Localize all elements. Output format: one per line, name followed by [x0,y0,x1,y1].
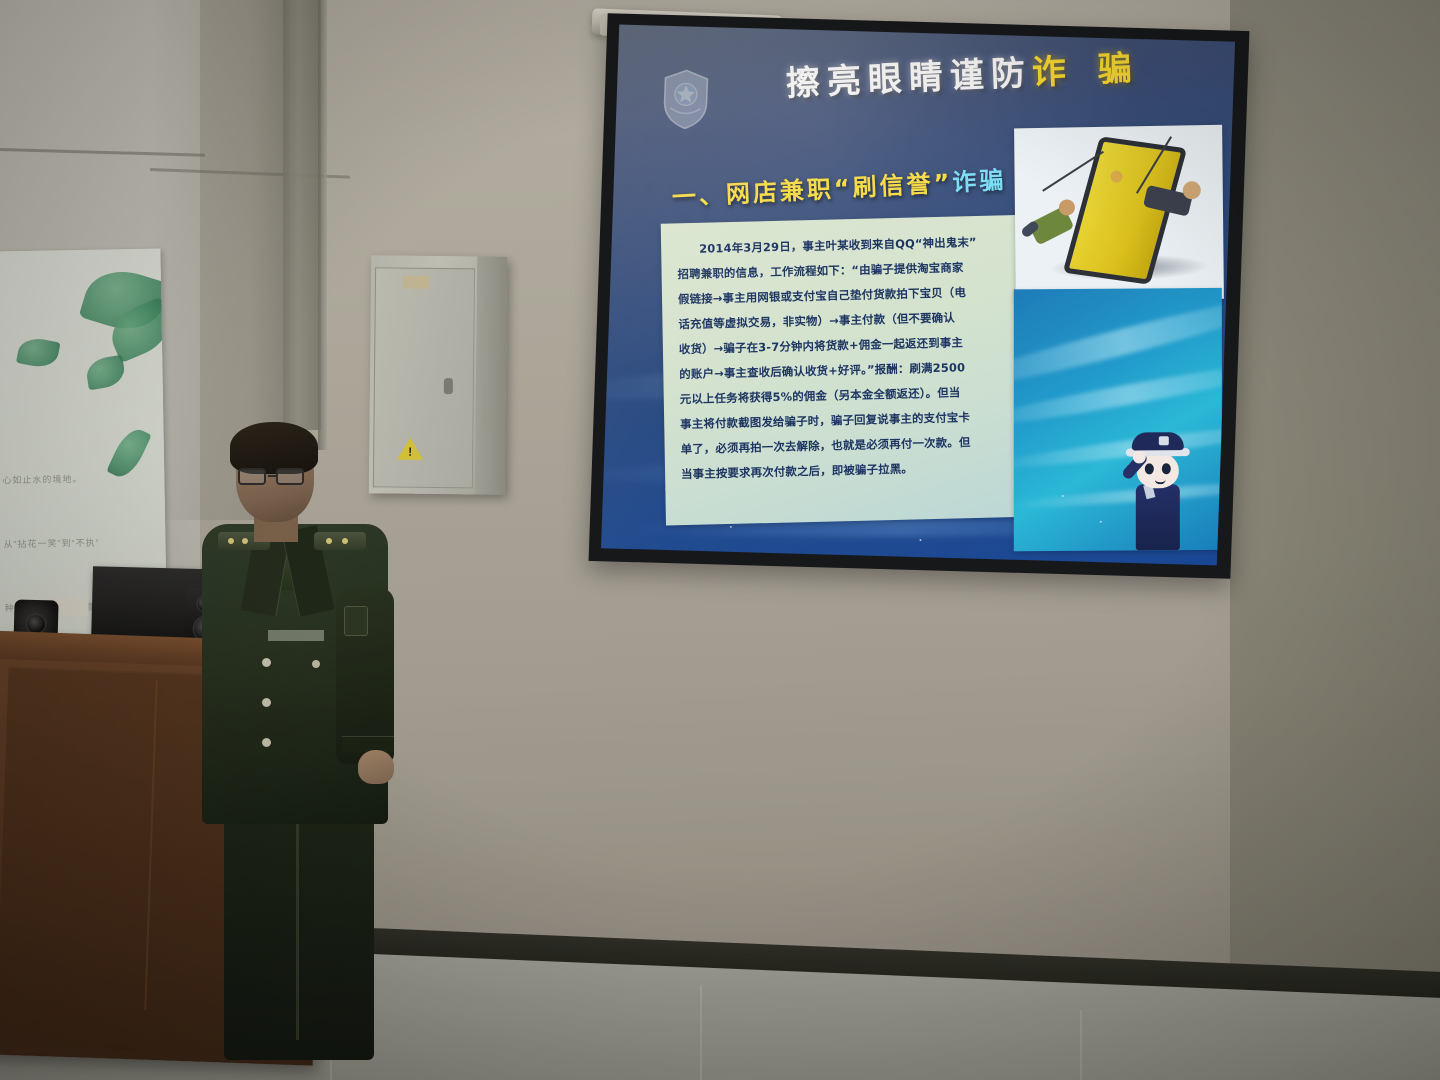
presenter-legs [224,810,374,1060]
pillar-edge [318,0,327,450]
uniform-button [262,698,271,707]
slide-subtitle: 一、网店兼职“刷信誉”诈骗 [671,160,1007,212]
slide-subtitle-prefix: 一、网店兼职“刷信誉” [671,169,953,212]
mascot-saluting-hand [1133,450,1146,463]
slide-title-highlight: 诈 骗 [1031,48,1142,93]
rank-star [342,538,348,544]
phishing-phone-cartoon [1014,125,1224,303]
eyeglasses-bridge [268,475,278,477]
mascot-bg-wave [1014,418,1222,475]
room-scene: 心如止水的境地。 从“拈花一笑”到“不执” 种种行为皆是大的修行 ! 64 [0,0,1440,1080]
presenter-cuff [342,736,394,752]
mascot-bg-wave [1014,477,1222,512]
police-badge-emblem [660,68,712,131]
presenter-hair [230,422,318,474]
projection-screen[interactable]: 擦亮眼睛谨防诈 骗 一、网店兼职“刷信誉”诈骗 2014年3月29日，事主叶某收… [601,25,1235,566]
poster-text-line: 从“拈花一笑”到“不执” [3,536,99,551]
uniform-button [262,738,271,747]
eyeglasses-right-lens [276,468,304,485]
uniform-button [312,660,320,668]
presenter [196,420,396,1020]
presenter-leg-split [296,820,299,1040]
cabinet-side-panel [475,256,507,494]
mascot-body [1136,484,1180,550]
cartoon-figure-right-head [1183,181,1201,199]
cabinet-latch[interactable] [444,378,453,394]
leaf-decoration [106,424,152,482]
sparkle [1062,495,1064,497]
sparkle [730,526,732,528]
mascot-police-cap [1132,432,1184,450]
poster-text-line: 心如止水的境地。 [2,472,82,486]
cartoon-figure-left-head [1059,199,1075,215]
mascot-eye [1162,463,1171,474]
presenter-shoulder-patch [344,606,368,636]
rank-star [242,538,248,544]
slide-subtitle-highlight: 诈骗 [952,166,1007,197]
mascot-mouth [1155,479,1166,484]
floor-tile-line [1080,1010,1082,1080]
saluting-police-mascot [1014,288,1222,551]
slide-title-main: 擦亮眼睛谨防 [785,53,1032,104]
leaf-decoration [16,335,61,370]
eyeglasses-left-lens [238,468,266,485]
cabinet-label [403,276,429,289]
right-wall [1230,0,1440,1010]
sparkle [919,539,921,541]
slide-title: 擦亮眼睛谨防诈 骗 [785,40,1143,105]
presenter-hand [358,750,394,784]
wall-pillar [283,0,321,430]
sparkle [1100,521,1102,523]
mascot-eye [1145,463,1154,474]
presenter-epaulette-right [314,532,366,550]
mascot-cap-badge [1159,436,1169,445]
slide-textbox: 2014年3月29日，事主叶某收到来自QQ“神出鬼末” 招聘兼职的信息，工作流程… [661,215,1038,526]
rank-star [228,538,234,544]
presenter-nameplate [268,630,324,641]
projection-screen-frame: 擦亮眼睛谨防诈 骗 一、网店兼职“刷信誉”诈骗 2014年3月29日，事主叶某收… [589,13,1250,579]
warning-exclamation: ! [408,446,412,458]
mascot-figure [1126,430,1190,550]
leaf-decoration [84,355,126,391]
rank-star [326,538,332,544]
floor-tile-line [700,985,702,1080]
uniform-button [262,658,271,667]
